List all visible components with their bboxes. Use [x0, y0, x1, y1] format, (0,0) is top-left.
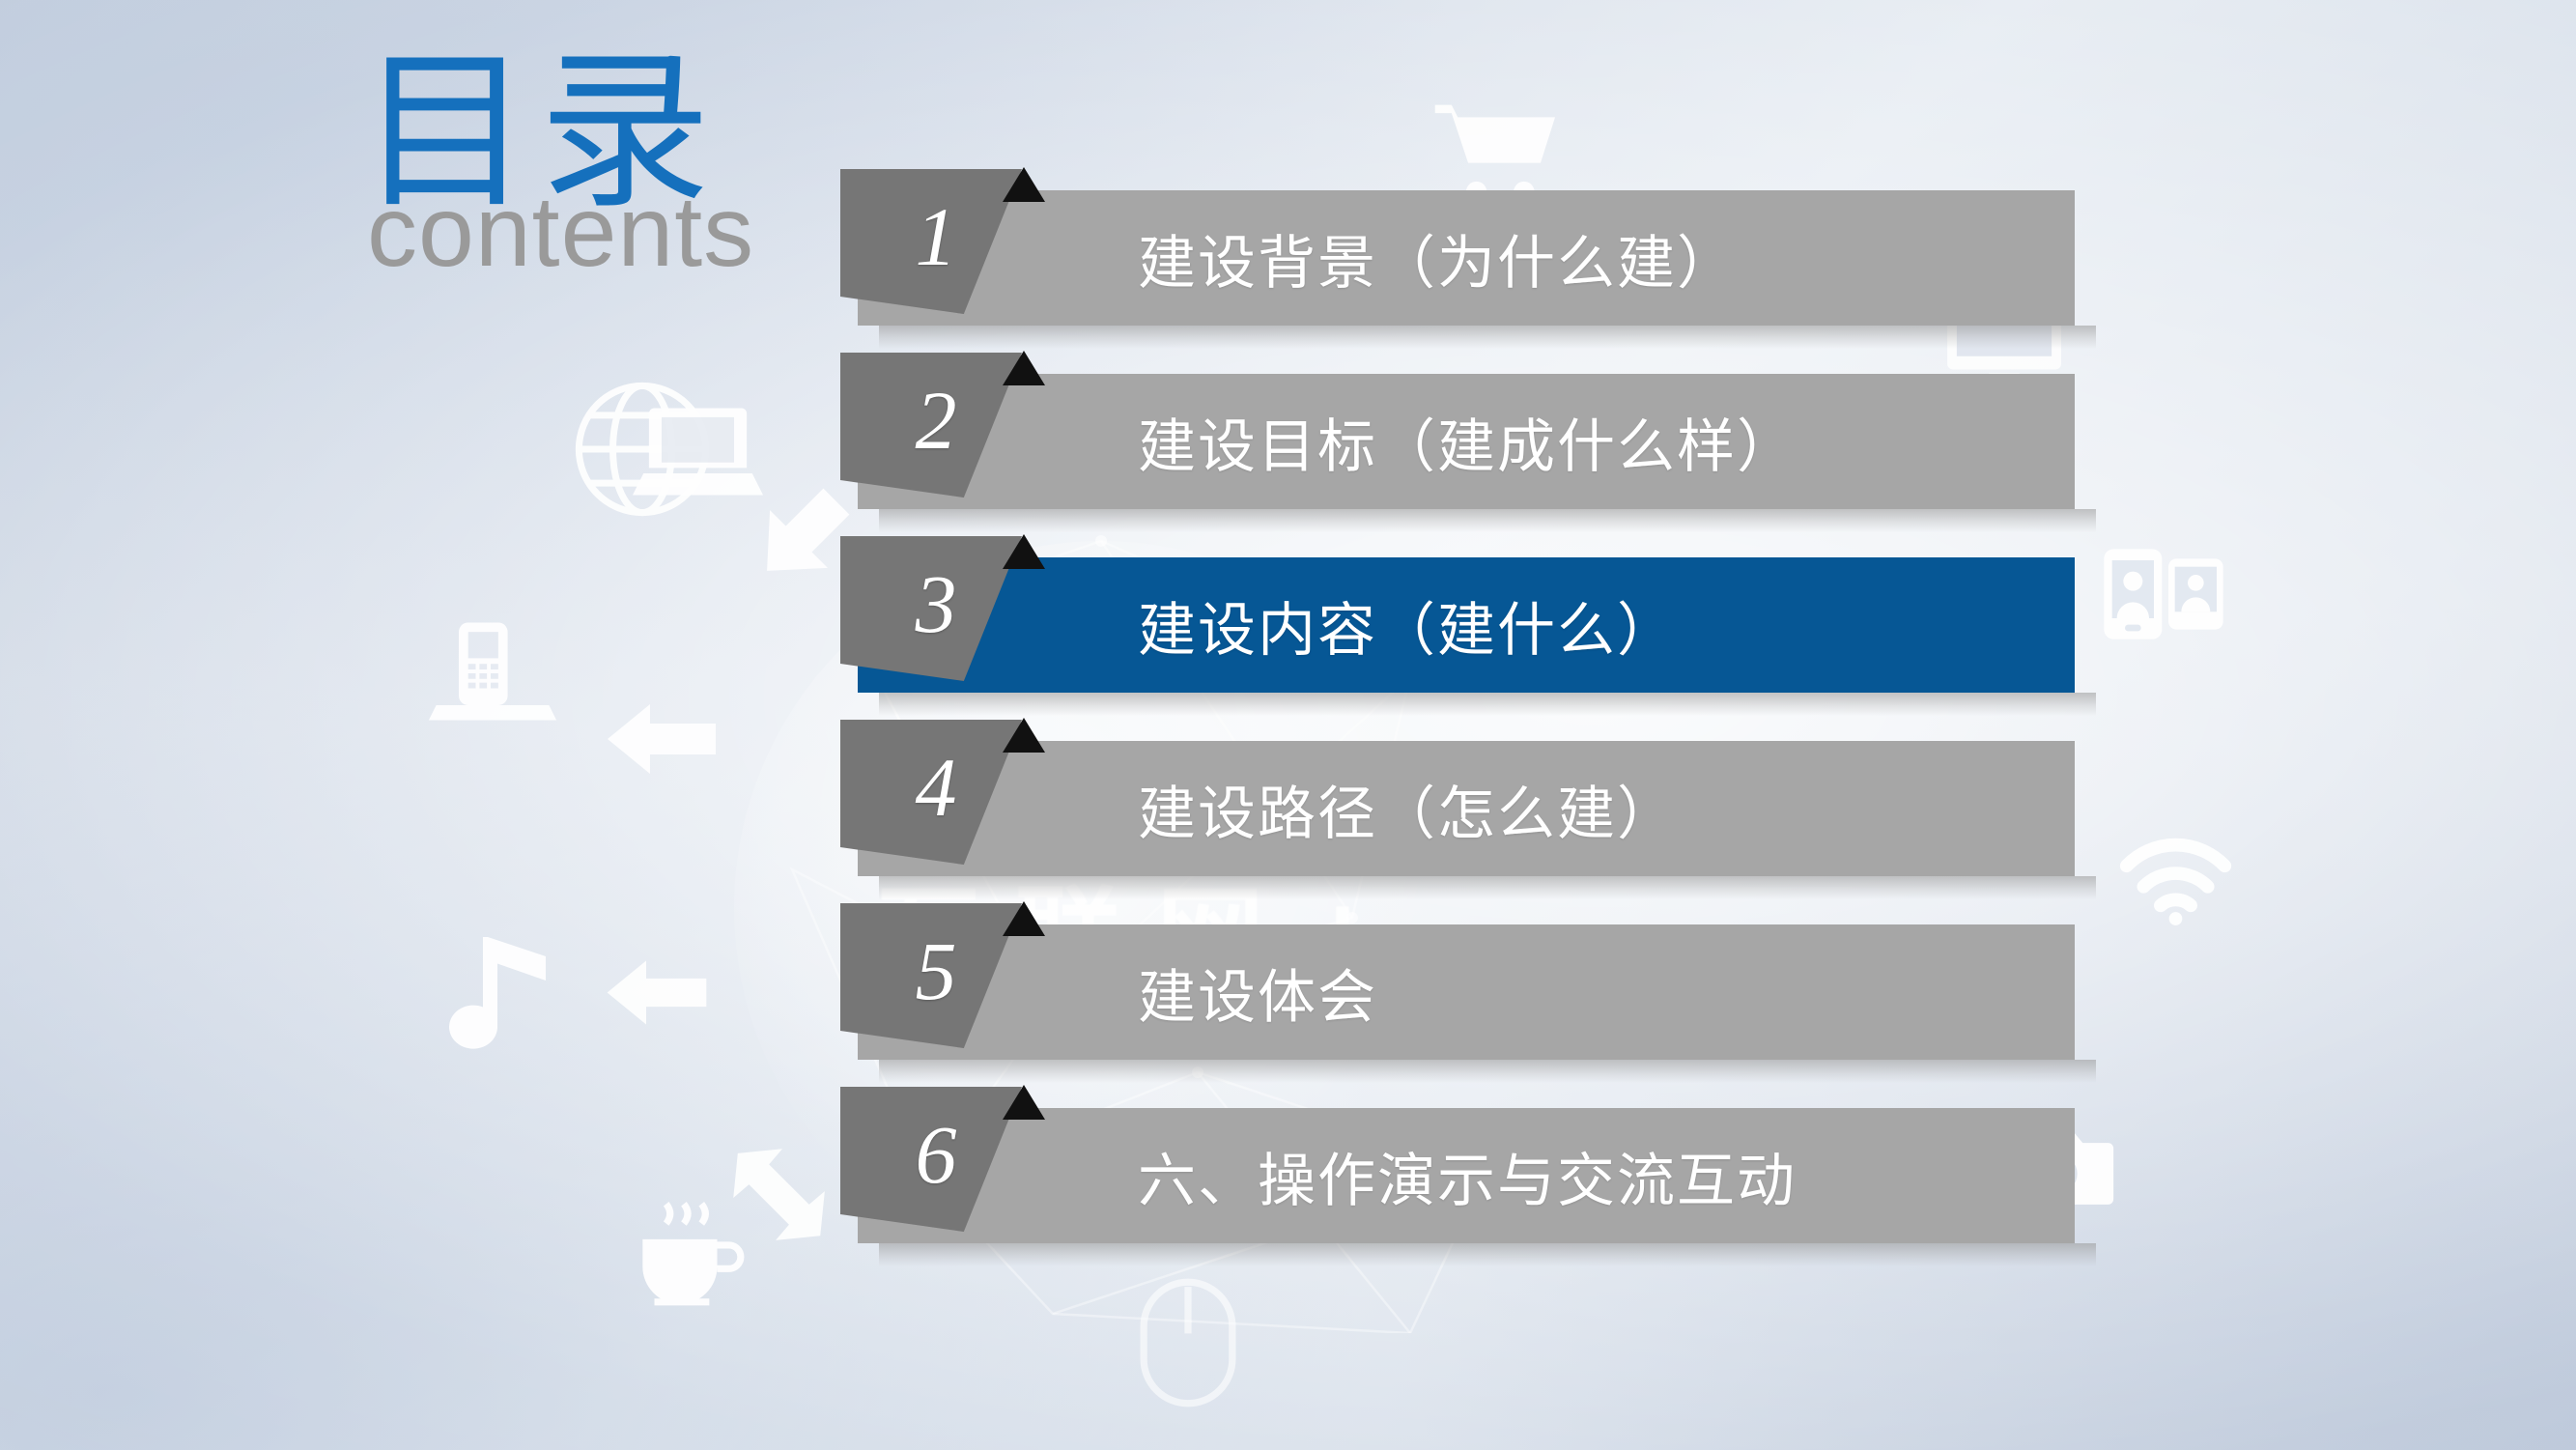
- row-label: 建设体会: [1138, 924, 1377, 1060]
- row-label: 建设目标（建成什么样）: [1138, 374, 1797, 509]
- row-bar-shadow: [879, 693, 2096, 716]
- heading-title-en: contents: [367, 182, 813, 282]
- row-bar[interactable]: [858, 924, 2075, 1060]
- contents-list: 建设背景（为什么建）1建设目标（建成什么样）2建设内容（建什么）3建设路径（怎么…: [858, 169, 2181, 1270]
- row-label: 建设路径（怎么建）: [1138, 741, 1677, 876]
- slide-heading: 目录 contents: [359, 46, 813, 298]
- row-label: 建设背景（为什么建）: [1138, 190, 1737, 326]
- presentation-slide: 互联网+: [0, 0, 2576, 1450]
- row-label: 建设内容（建什么）: [1138, 557, 1677, 693]
- row-bar-shadow: [879, 509, 2096, 532]
- row-bar-shadow: [879, 876, 2096, 899]
- badge-triangle-icon: [1003, 534, 1045, 569]
- row-bar-shadow: [879, 1243, 2096, 1266]
- row-bar-shadow: [879, 1060, 2096, 1083]
- contents-row[interactable]: 六、操作演示与交流互动6: [858, 1087, 2181, 1270]
- row-label: 六、操作演示与交流互动: [1138, 1108, 1797, 1243]
- badge-triangle-icon: [1003, 901, 1045, 936]
- contents-row[interactable]: 建设路径（怎么建）4: [858, 720, 2181, 903]
- badge-triangle-icon: [1003, 718, 1045, 753]
- badge-triangle-icon: [1003, 351, 1045, 385]
- contents-row[interactable]: 建设内容（建什么）3: [858, 536, 2181, 720]
- row-bar-shadow: [879, 326, 2096, 349]
- badge-triangle-icon: [1003, 167, 1045, 202]
- badge-triangle-icon: [1003, 1085, 1045, 1120]
- contents-row[interactable]: 建设体会5: [858, 903, 2181, 1087]
- contents-row[interactable]: 建设目标（建成什么样）2: [858, 353, 2181, 536]
- contents-row[interactable]: 建设背景（为什么建）1: [858, 169, 2181, 353]
